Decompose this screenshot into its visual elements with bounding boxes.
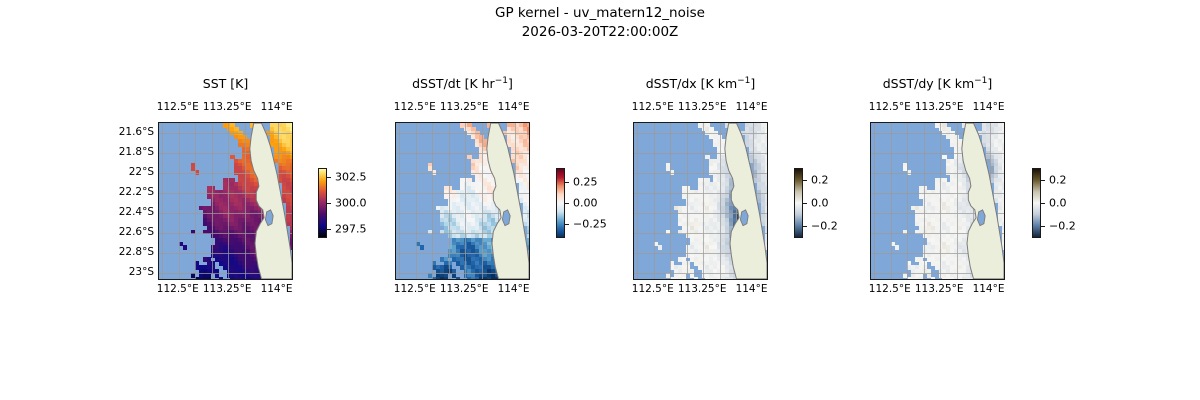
lon-tick-label: 114°E bbox=[498, 101, 530, 113]
lon-tick-label: 113.25°E bbox=[678, 101, 727, 113]
lat-tick-label: 22.4°S bbox=[119, 206, 154, 218]
lon-tick-label: 113.25°E bbox=[203, 101, 252, 113]
lon-tick-label: 112.5°E bbox=[157, 101, 199, 113]
coastline-layer bbox=[871, 123, 1004, 279]
colorbar-tick-label: 0.2 bbox=[1049, 173, 1067, 186]
colorbar-tick-mark bbox=[327, 229, 331, 230]
colorbar-tick-label: 302.5 bbox=[335, 171, 367, 184]
panel-title-text: SST [K] bbox=[203, 76, 248, 91]
colorbar-gradient-sst bbox=[318, 168, 327, 238]
lon-tick-label: 114°E bbox=[261, 101, 293, 113]
lon-tick-label: 112.5°E bbox=[157, 283, 199, 295]
lon-ticklabels-top-dsst_dt: 112.5°E113.25°E114°E bbox=[395, 101, 575, 115]
colorbar-tick-label: 0.00 bbox=[573, 197, 598, 210]
lat-tick-label: 22.2°S bbox=[119, 186, 154, 198]
lon-ticklabels-bot-dsst_dy: 112.5°E113.25°E114°E bbox=[870, 283, 1050, 297]
lon-tick-label: 112.5°E bbox=[869, 101, 911, 113]
lat-tick-label: 22.8°S bbox=[119, 246, 154, 258]
colorbar-tick-label: 0.0 bbox=[811, 197, 829, 210]
colorbar-tick-label: 0.2 bbox=[811, 173, 829, 186]
map-axes-dsst_dx[interactable] bbox=[633, 122, 768, 280]
colorbar-tick-mark bbox=[1041, 226, 1045, 227]
lon-tick-label: 114°E bbox=[261, 283, 293, 295]
map-axes-dsst_dt[interactable] bbox=[395, 122, 530, 280]
land-polygon bbox=[250, 123, 292, 279]
lat-tick-label: 22.6°S bbox=[119, 226, 154, 238]
lon-tick-label: 114°E bbox=[736, 283, 768, 295]
map-axes-sst[interactable] bbox=[158, 122, 293, 280]
land-polygon bbox=[725, 123, 767, 279]
lon-tick-label: 113.25°E bbox=[915, 283, 964, 295]
panel-title-exponent: −1 bbox=[737, 76, 750, 86]
colorbar-tick-label: −0.2 bbox=[811, 220, 838, 233]
panel-title-unit-close: ] bbox=[508, 76, 513, 91]
panel-title-text: dSST/dy [K km bbox=[883, 76, 974, 91]
colorbar-tick-mark bbox=[803, 180, 807, 181]
lon-ticklabels-bot-dsst_dt: 112.5°E113.25°E114°E bbox=[395, 283, 575, 297]
colorbar-ticklabels-sst: 302.5300.0297.5 bbox=[327, 168, 397, 238]
colorbar-tick-label: −0.25 bbox=[573, 217, 607, 230]
colorbar-tick-mark bbox=[1041, 180, 1045, 181]
colorbar-tick-mark bbox=[565, 182, 569, 183]
lon-tick-label: 113.25°E bbox=[440, 101, 489, 113]
figure-suptitle: GP kernel - uv_matern12_noise 2026-03-20… bbox=[0, 4, 1200, 42]
lon-tick-label: 113.25°E bbox=[203, 283, 252, 295]
figure-canvas: GP kernel - uv_matern12_noise 2026-03-20… bbox=[0, 0, 1200, 400]
panel-title-text: dSST/dx [K km bbox=[646, 76, 737, 91]
coastline-layer bbox=[159, 123, 292, 279]
colorbar-tick-label: 0.25 bbox=[573, 176, 598, 189]
lon-tick-label: 112.5°E bbox=[394, 283, 436, 295]
panel-title-exponent: −1 bbox=[974, 76, 987, 86]
lon-tick-label: 112.5°E bbox=[869, 283, 911, 295]
panel-title-dsst_dx: dSST/dx [K km−1] bbox=[611, 76, 791, 91]
lon-ticklabels-top-sst: 112.5°E113.25°E114°E bbox=[158, 101, 338, 115]
colorbar-tick-mark bbox=[1041, 203, 1045, 204]
lon-tick-label: 113.25°E bbox=[915, 101, 964, 113]
lon-tick-label: 113.25°E bbox=[440, 283, 489, 295]
lat-tick-label: 21.6°S bbox=[119, 126, 154, 138]
panel-title-dsst_dt: dSST/dt [K hr−1] bbox=[373, 76, 553, 91]
lon-tick-label: 114°E bbox=[736, 101, 768, 113]
lon-tick-label: 114°E bbox=[973, 101, 1005, 113]
colorbar-tick-mark bbox=[327, 203, 331, 204]
panel-title-text: dSST/dt [K hr bbox=[412, 76, 495, 91]
coastline-layer bbox=[634, 123, 767, 279]
colorbar-gradient-dsst_dy bbox=[1032, 168, 1041, 238]
colorbar-tick-label: 0.0 bbox=[1049, 197, 1067, 210]
colorbar-ticklabels-dsst_dt: 0.250.00−0.25 bbox=[565, 168, 635, 238]
colorbar-tick-mark bbox=[803, 226, 807, 227]
lon-ticklabels-top-dsst_dx: 112.5°E113.25°E114°E bbox=[633, 101, 813, 115]
lon-tick-label: 114°E bbox=[498, 283, 530, 295]
panel-title-unit-close: ] bbox=[987, 76, 992, 91]
lagoon-polygon bbox=[265, 210, 273, 226]
lon-tick-label: 112.5°E bbox=[632, 101, 674, 113]
lon-ticklabels-bot-sst: 112.5°E113.25°E114°E bbox=[158, 283, 338, 297]
panel-title-dsst_dy: dSST/dy [K km−1] bbox=[848, 76, 1028, 91]
panel-title-exponent: −1 bbox=[495, 76, 508, 86]
lon-tick-label: 114°E bbox=[973, 283, 1005, 295]
lon-ticklabels-top-dsst_dy: 112.5°E113.25°E114°E bbox=[870, 101, 1050, 115]
lon-ticklabels-bot-dsst_dx: 112.5°E113.25°E114°E bbox=[633, 283, 813, 297]
lon-tick-label: 112.5°E bbox=[394, 101, 436, 113]
lat-tick-label: 21.8°S bbox=[119, 146, 154, 158]
lat-tick-label: 23°S bbox=[129, 266, 154, 278]
lon-tick-label: 112.5°E bbox=[632, 283, 674, 295]
colorbar-tick-label: 297.5 bbox=[335, 222, 367, 235]
lagoon-polygon bbox=[977, 210, 985, 226]
lon-tick-label: 113.25°E bbox=[678, 283, 727, 295]
colorbar-gradient-dsst_dt bbox=[556, 168, 565, 238]
colorbar-tick-mark bbox=[327, 177, 331, 178]
colorbar-tick-mark bbox=[565, 203, 569, 204]
colorbar-tick-mark bbox=[565, 224, 569, 225]
suptitle-line-2: 2026-03-20T22:00:00Z bbox=[0, 23, 1200, 42]
colorbar-ticklabels-dsst_dx: 0.20.0−0.2 bbox=[803, 168, 873, 238]
panel-title-sst: SST [K] bbox=[136, 76, 316, 91]
coastline-layer bbox=[396, 123, 529, 279]
colorbar-ticklabels-dsst_dy: 0.20.0−0.2 bbox=[1041, 168, 1111, 238]
land-polygon bbox=[487, 123, 529, 279]
panel-title-unit-close: ] bbox=[750, 76, 755, 91]
colorbar-tick-label: −0.2 bbox=[1049, 220, 1076, 233]
lagoon-polygon bbox=[740, 210, 748, 226]
colorbar-tick-mark bbox=[803, 203, 807, 204]
colorbar-tick-label: 300.0 bbox=[335, 197, 367, 210]
land-polygon bbox=[962, 123, 1004, 279]
lat-tick-label: 22°S bbox=[129, 166, 154, 178]
suptitle-line-1: GP kernel - uv_matern12_noise bbox=[0, 4, 1200, 23]
colorbar-gradient-dsst_dx bbox=[794, 168, 803, 238]
lagoon-polygon bbox=[502, 210, 510, 226]
map-axes-dsst_dy[interactable] bbox=[870, 122, 1005, 280]
